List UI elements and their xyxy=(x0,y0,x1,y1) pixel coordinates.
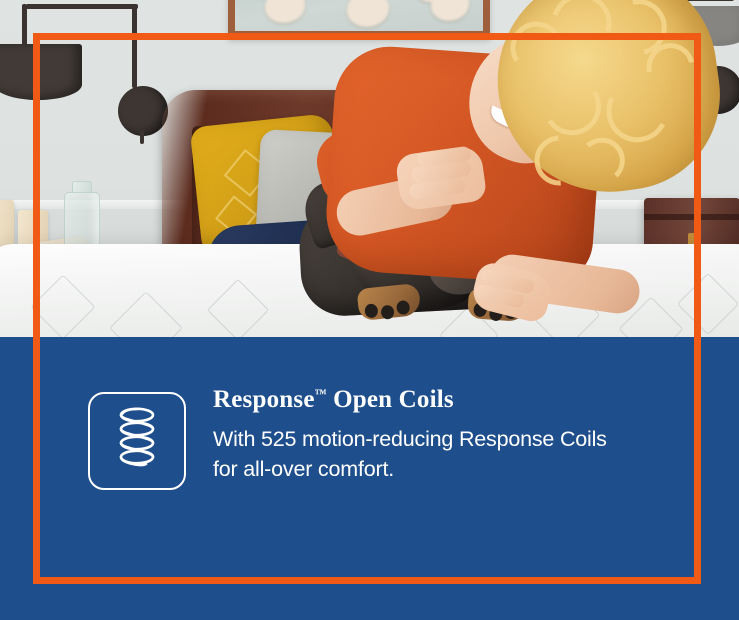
woman-hand-petting xyxy=(395,144,488,211)
coil-spring-icon xyxy=(88,392,186,490)
trademark-symbol: ™ xyxy=(315,387,327,401)
feature-headline: Response™ Open Coils xyxy=(213,385,653,415)
headline-rest: Open Coils xyxy=(327,386,454,413)
headline-brand: Response xyxy=(213,386,315,413)
feature-card: Response™ Open Coils With 525 motion-red… xyxy=(0,0,739,620)
feature-content: Response™ Open Coils With 525 motion-red… xyxy=(0,337,739,620)
bedroom-photo xyxy=(0,0,739,337)
framed-artwork xyxy=(228,0,490,38)
feature-description: With 525 motion-reducing Response Coils … xyxy=(213,424,623,485)
feature-text-block: Response™ Open Coils With 525 motion-red… xyxy=(213,385,653,485)
